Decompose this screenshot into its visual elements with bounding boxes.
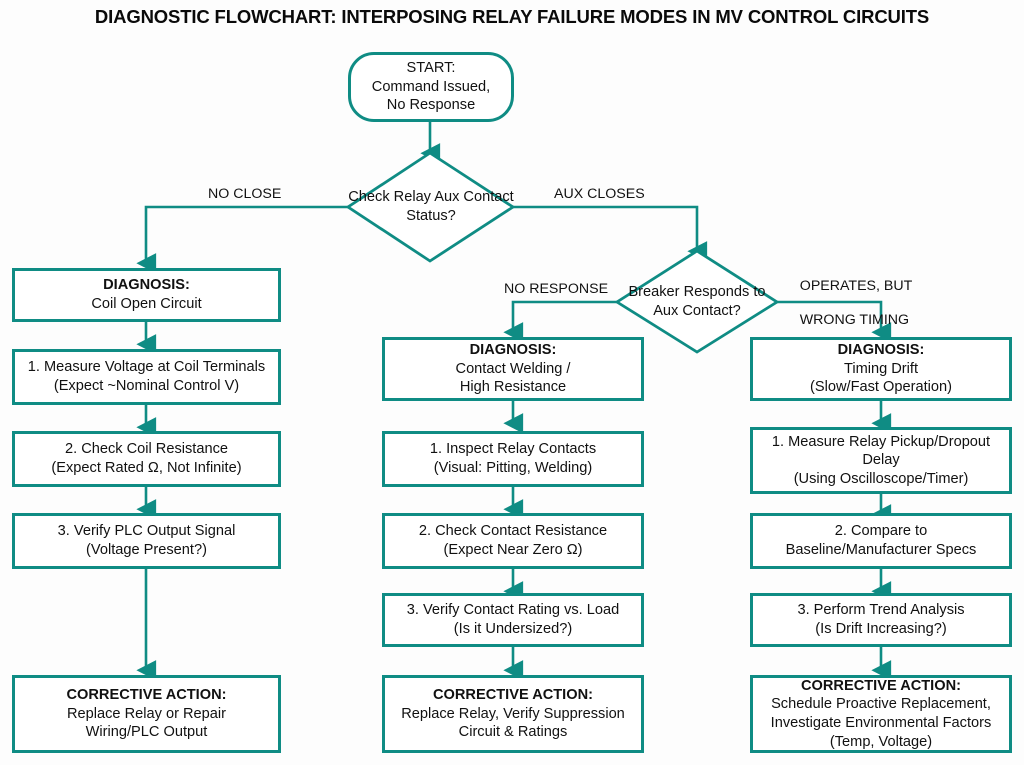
right-diagnosis-line3: (Slow/Fast Operation)	[810, 378, 952, 397]
node-left-corrective-action[interactable]: CORRECTIVE ACTION: Replace Relay or Repa…	[12, 675, 281, 753]
right-step3-line1: 3. Perform Trend Analysis	[797, 601, 964, 620]
node-start-line1: START:	[407, 59, 456, 78]
decision2-line3: Aux Contact?	[653, 303, 741, 319]
node-left-step-2[interactable]: 2. Check Coil Resistance (Expect Rated Ω…	[12, 431, 281, 487]
node-mid-step-2[interactable]: 2. Check Contact Resistance (Expect Near…	[382, 513, 644, 569]
mid-step1-line2: (Visual: Pitting, Welding)	[434, 459, 592, 478]
mid-action-line3: Circuit & Ratings	[459, 723, 568, 742]
node-start[interactable]: START: Command Issued, No Response	[348, 52, 514, 122]
mid-step3-line1: 3. Verify Contact Rating vs. Load	[407, 601, 620, 620]
right-step1-line1: 1. Measure Relay Pickup/Dropout	[772, 433, 990, 452]
mid-step3-line2: (Is it Undersized?)	[454, 620, 572, 639]
edge-label-operates-wrong-timing: OPERATES, BUT WRONG TIMING	[784, 261, 912, 346]
node-right-step-3[interactable]: 3. Perform Trend Analysis (Is Drift Incr…	[750, 593, 1012, 647]
mid-step1-line1: 1. Inspect Relay Contacts	[430, 440, 596, 459]
decision2-line2: Responds to	[684, 284, 766, 300]
right-step1-line2: Delay	[862, 451, 899, 470]
decision1-line2: Aux Contact	[434, 189, 514, 205]
right-diagnosis-line1: DIAGNOSIS:	[838, 341, 925, 360]
mid-action-line1: CORRECTIVE ACTION:	[433, 686, 593, 705]
node-right-corrective-action[interactable]: CORRECTIVE ACTION: Schedule Proactive Re…	[750, 675, 1012, 753]
edge-label-aux-closes: AUX CLOSES	[554, 186, 645, 203]
node-right-step-2[interactable]: 2. Compare to Baseline/Manufacturer Spec…	[750, 513, 1012, 569]
node-start-line3: No Response	[387, 96, 475, 115]
left-step2-line2: (Expect Rated Ω, Not Infinite)	[51, 459, 241, 478]
left-diagnosis-line1: DIAGNOSIS:	[103, 276, 190, 295]
node-mid-diagnosis[interactable]: DIAGNOSIS: Contact Welding / High Resist…	[382, 337, 644, 401]
left-step2-line1: 2. Check Coil Resistance	[65, 440, 228, 459]
left-diagnosis-line2: Coil Open Circuit	[91, 295, 201, 314]
flowchart-canvas: DIAGNOSTIC FLOWCHART: INTERPOSING RELAY …	[0, 0, 1024, 765]
node-mid-step-1[interactable]: 1. Inspect Relay Contacts (Visual: Pitti…	[382, 431, 644, 487]
node-start-line2: Command Issued,	[372, 78, 490, 97]
edge-no-close	[146, 207, 348, 263]
left-action-line2: Replace Relay or Repair	[67, 705, 226, 724]
mid-diagnosis-line3: High Resistance	[460, 378, 566, 397]
edge-no-response	[513, 302, 617, 332]
mid-step2-line1: 2. Check Contact Resistance	[419, 522, 607, 541]
page-title: DIAGNOSTIC FLOWCHART: INTERPOSING RELAY …	[0, 6, 1024, 28]
node-left-step-3[interactable]: 3. Verify PLC Output Signal (Voltage Pre…	[12, 513, 281, 569]
left-step3-line1: 3. Verify PLC Output Signal	[58, 522, 236, 541]
edge-aux-closes	[513, 207, 697, 251]
right-step2-line2: Baseline/Manufacturer Specs	[786, 541, 977, 560]
left-action-line1: CORRECTIVE ACTION:	[67, 686, 227, 705]
edge-label-no-close: NO CLOSE	[208, 186, 281, 203]
right-action-line3: Investigate Environmental Factors	[771, 714, 992, 733]
left-step1-line2: (Expect ~Nominal Control V)	[54, 377, 239, 396]
edge-label-no-response: NO RESPONSE	[504, 281, 608, 298]
edge-label-operates-line1: OPERATES, BUT	[800, 278, 912, 294]
decision2-line1: Breaker	[628, 284, 679, 300]
node-right-step-1[interactable]: 1. Measure Relay Pickup/Dropout Delay (U…	[750, 427, 1012, 494]
mid-diagnosis-line1: DIAGNOSIS:	[470, 341, 557, 360]
node-right-diagnosis[interactable]: DIAGNOSIS: Timing Drift (Slow/Fast Opera…	[750, 337, 1012, 401]
decision1-line3: Status?	[406, 208, 456, 224]
left-step1-line1: 1. Measure Voltage at Coil Terminals	[28, 358, 265, 377]
mid-step2-line2: (Expect Near Zero Ω)	[443, 541, 582, 560]
mid-action-line2: Replace Relay, Verify Suppression	[401, 705, 625, 724]
right-step3-line2: (Is Drift Increasing?)	[815, 620, 946, 639]
right-action-line4: (Temp, Voltage)	[830, 733, 932, 752]
mid-diagnosis-line2: Contact Welding /	[456, 360, 571, 379]
right-action-line2: Schedule Proactive Replacement,	[771, 695, 991, 714]
right-diagnosis-line2: Timing Drift	[844, 360, 918, 379]
decision1-line1: Check Relay	[348, 189, 431, 205]
right-step2-line1: 2. Compare to	[835, 522, 927, 541]
left-step3-line2: (Voltage Present?)	[86, 541, 207, 560]
edge-label-operates-line2: WRONG TIMING	[800, 312, 909, 328]
node-decision-aux-contact-status[interactable]: Check Relay Aux Contact Status?	[348, 153, 514, 261]
node-mid-corrective-action[interactable]: CORRECTIVE ACTION: Replace Relay, Verify…	[382, 675, 644, 753]
node-left-diagnosis[interactable]: DIAGNOSIS: Coil Open Circuit	[12, 268, 281, 322]
node-left-step-1[interactable]: 1. Measure Voltage at Coil Terminals (Ex…	[12, 349, 281, 405]
left-action-line3: Wiring/PLC Output	[86, 723, 208, 742]
right-action-line1: CORRECTIVE ACTION:	[801, 677, 961, 696]
node-mid-step-3[interactable]: 3. Verify Contact Rating vs. Load (Is it…	[382, 593, 644, 647]
right-step1-line3: (Using Oscilloscope/Timer)	[794, 470, 969, 489]
